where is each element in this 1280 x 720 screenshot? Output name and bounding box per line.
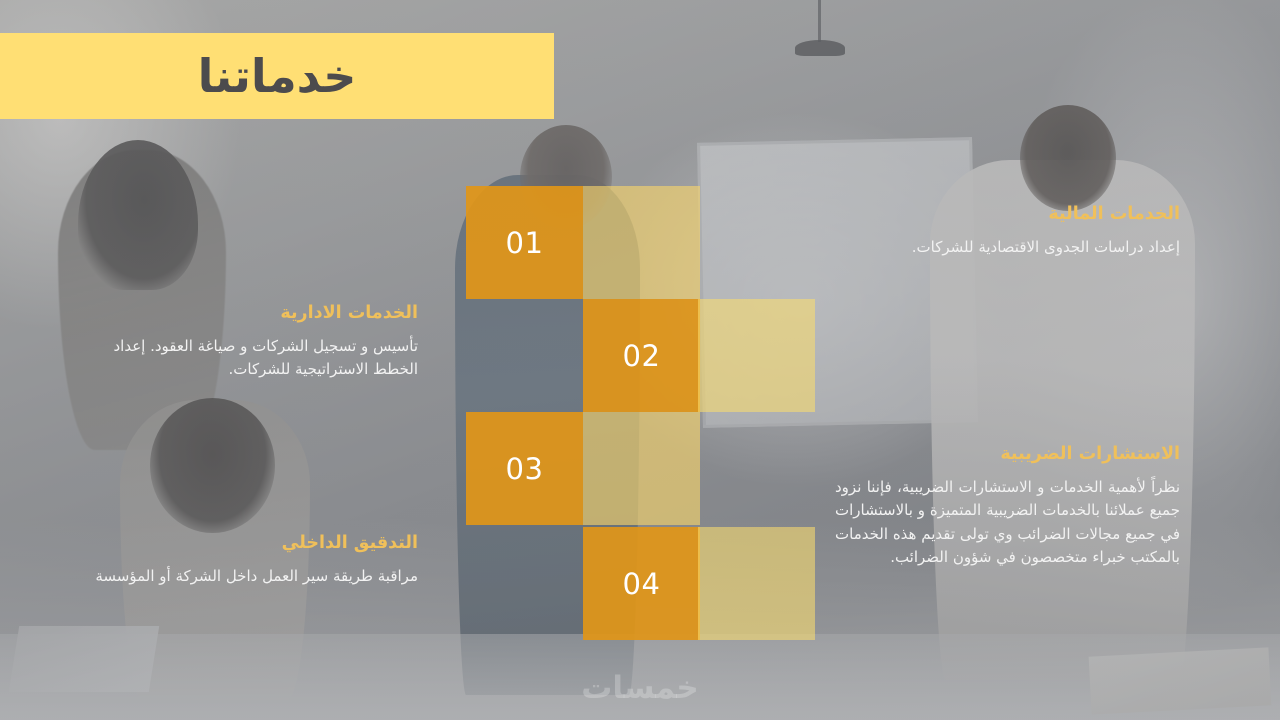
service-block-admin: الخدمات الادارية تأسيس و تسجيل الشركات و… — [73, 303, 418, 382]
tile-number-02: 02 — [623, 339, 661, 373]
service-heading-admin: الخدمات الادارية — [73, 303, 418, 324]
tile-number-01: 01 — [506, 226, 544, 260]
service-body-finance: إعداد دراسات الجدوى الاقتصادية للشركات. — [835, 236, 1180, 259]
tile-number-03: 03 — [506, 452, 544, 486]
tile-accent-r3 — [583, 412, 700, 525]
tile-02: 02 — [583, 299, 700, 412]
tile-accent-r2 — [698, 299, 815, 412]
tile-03: 03 — [466, 412, 583, 525]
tile-accent-r4 — [698, 527, 815, 640]
service-block-tax: الاستشارات الضريبية نظراً لأهمية الخدمات… — [835, 444, 1180, 569]
service-body-admin: تأسيس و تسجيل الشركات و صياغة العقود. إع… — [73, 335, 418, 382]
number-grid: 01 02 03 04 — [466, 186, 815, 640]
page-title: خدماتنا — [198, 53, 357, 99]
service-body-audit: مراقبة طريقة سير العمل داخل الشركة أو ال… — [73, 565, 418, 588]
service-heading-finance: الخدمات المالية — [835, 204, 1180, 225]
service-heading-tax: الاستشارات الضريبية — [835, 444, 1180, 465]
service-block-audit: التدقيق الداخلي مراقبة طريقة سير العمل د… — [73, 533, 418, 588]
service-block-finance: الخدمات المالية إعداد دراسات الجدوى الاق… — [835, 204, 1180, 259]
slide-canvas: خدماتنا 01 02 03 04 الخدمات المالية إعدا… — [0, 0, 1280, 720]
tile-number-04: 04 — [623, 567, 661, 601]
title-banner: خدماتنا — [0, 33, 554, 119]
service-heading-audit: التدقيق الداخلي — [73, 533, 418, 554]
watermark-khamsat: خمسات — [581, 670, 698, 706]
tile-01: 01 — [466, 186, 583, 299]
service-body-tax: نظراً لأهمية الخدمات و الاستشارات الضريب… — [835, 476, 1180, 569]
tile-accent-r1 — [583, 186, 700, 299]
tile-04: 04 — [583, 527, 700, 640]
